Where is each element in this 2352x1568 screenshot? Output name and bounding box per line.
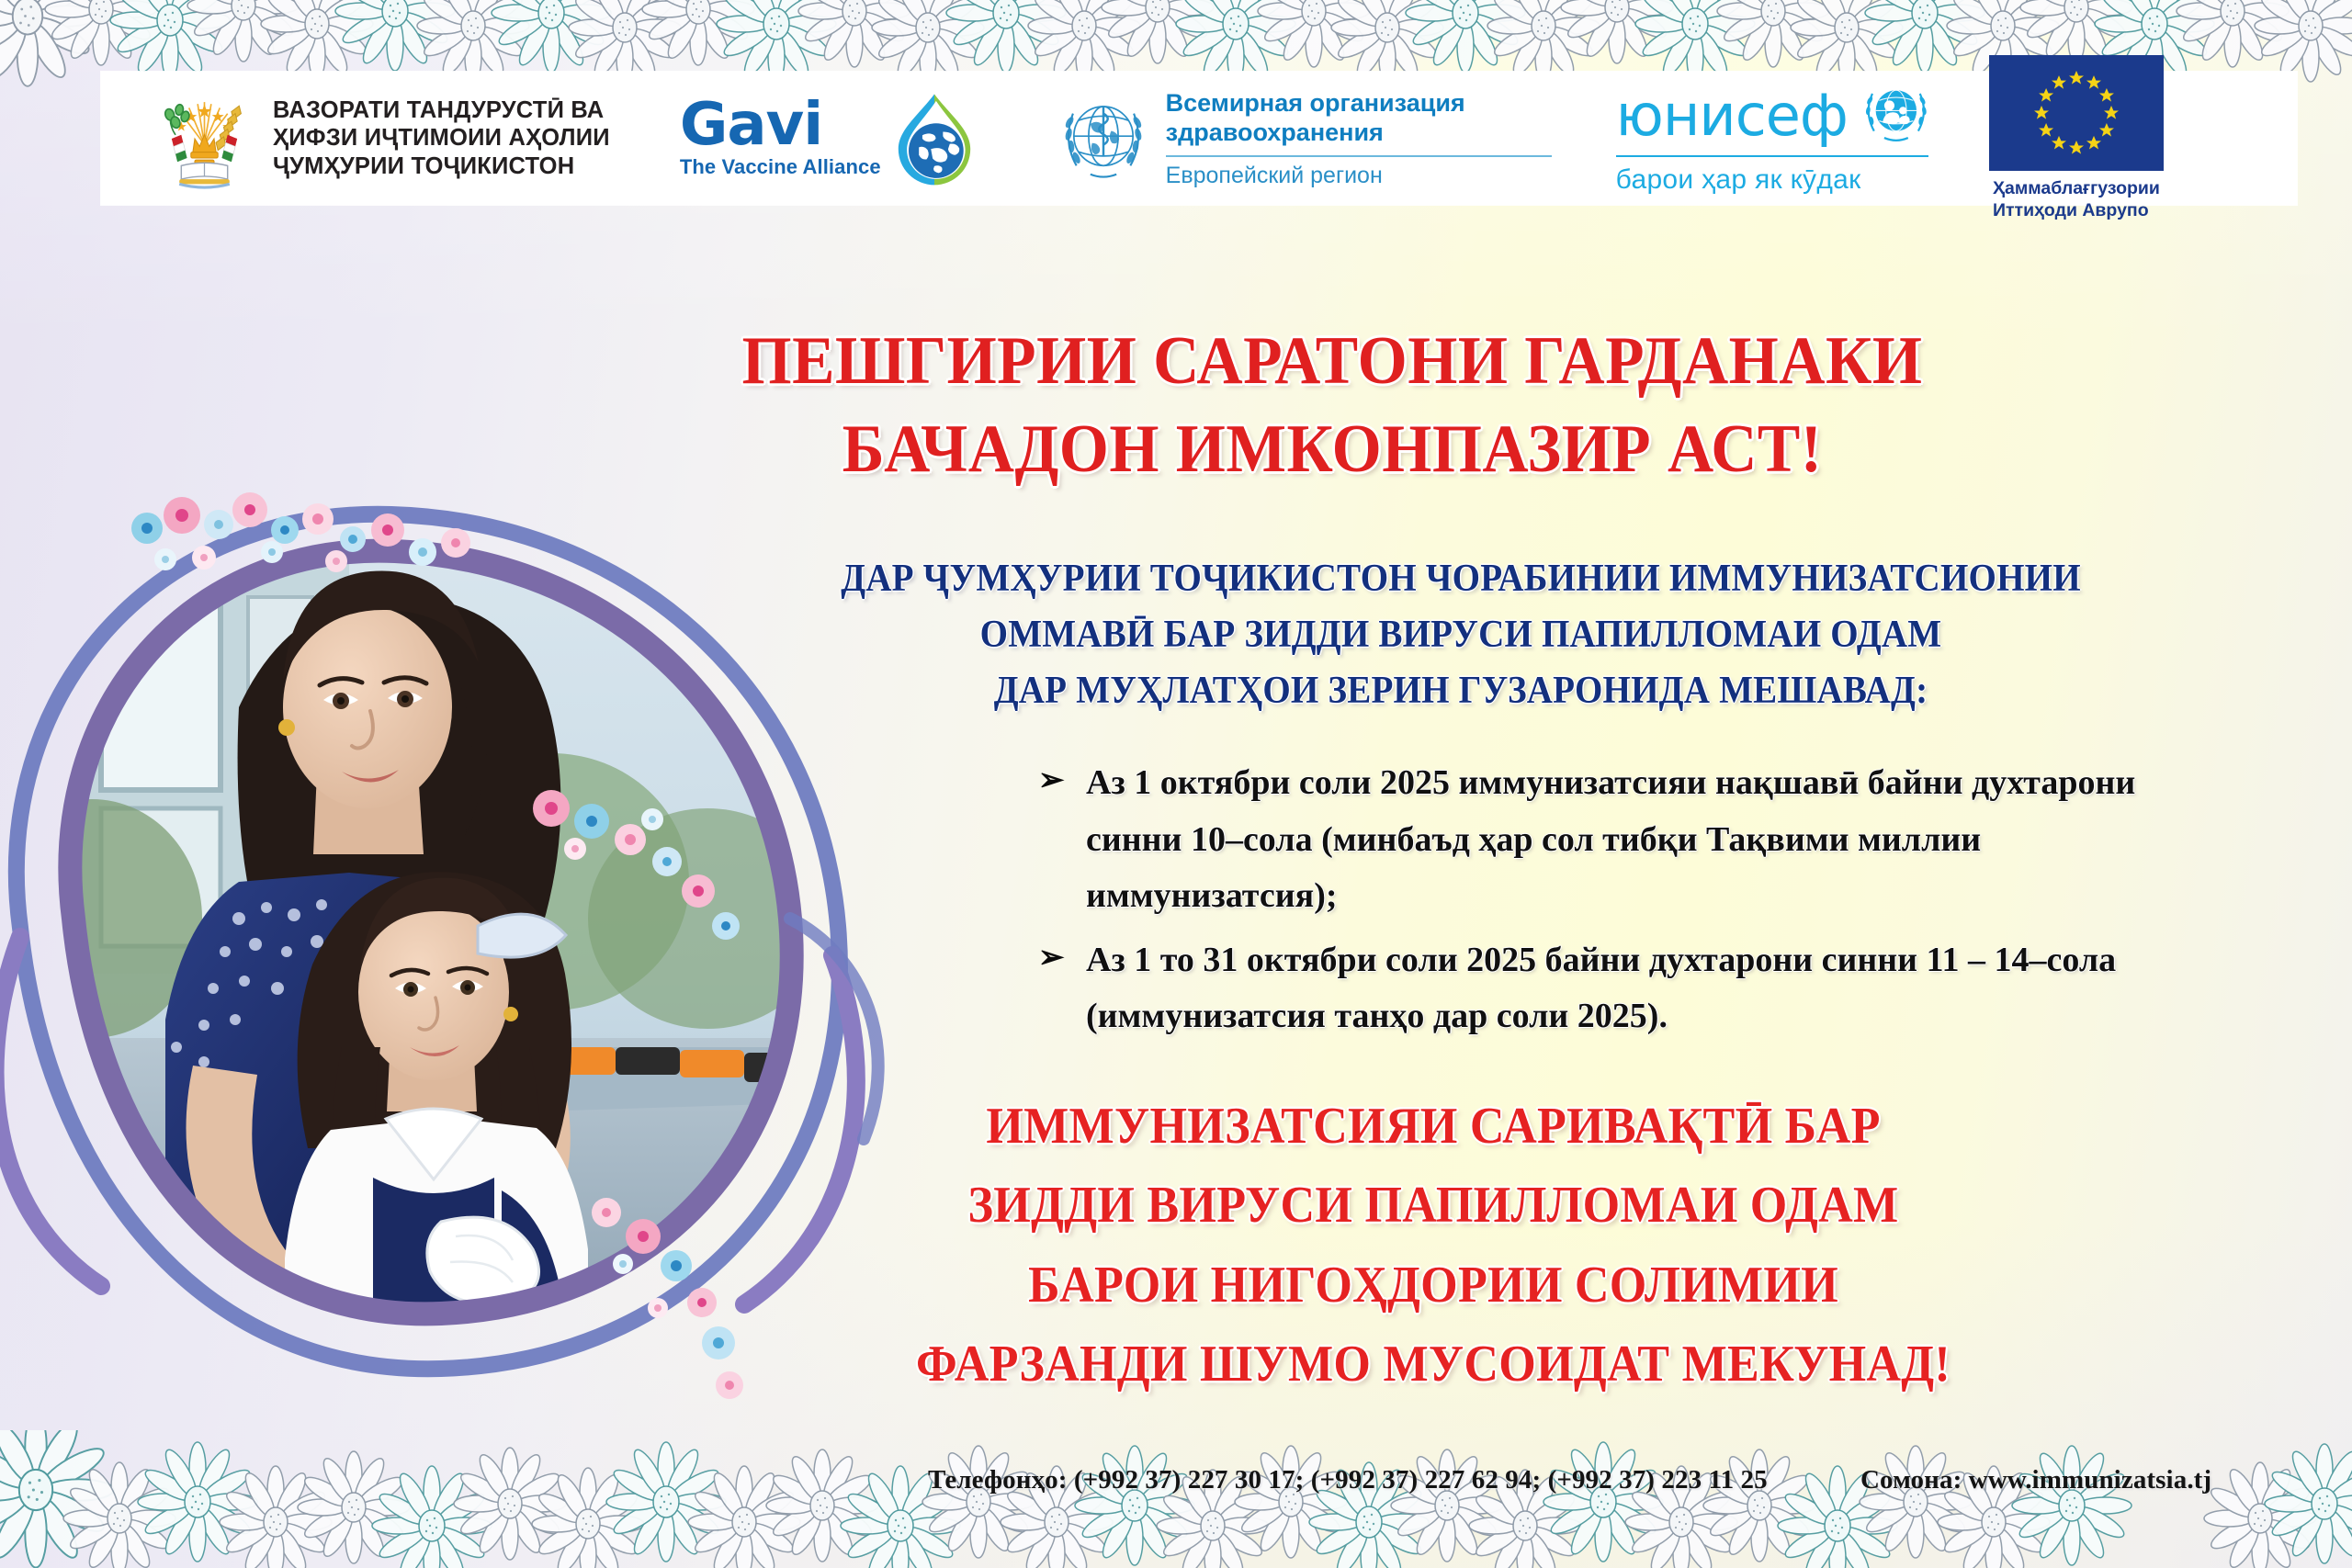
unicef-logo: юнисеф: [1616, 72, 1928, 205]
who-divider: [1166, 155, 1552, 157]
page-title: ПЕШГИРИИ САРАТОНИ ГАРДАНАКИ БАЧАДОН ИМКО…: [633, 320, 2032, 491]
who-title-text: Всемирная организация здравоохранения: [1166, 89, 1552, 148]
cta-line-3: БАРОИ НИГОҲДОРИИ СОЛИМИИ: [698, 1247, 2168, 1323]
headline-line-1: ПЕШГИРИИ САРАТОНИ ГАРДАНАКИ: [633, 320, 2032, 402]
contact-website[interactable]: Сомона: www.immunizatsia.tj: [1860, 1465, 2211, 1495]
headline-line-2: БАЧАДОН ИМКОНПАЗИР АСТ!: [633, 408, 2032, 491]
gavi-droplet-globe-icon: [883, 87, 986, 190]
unicef-emblem-icon: [1860, 82, 1928, 150]
unicef-wordmark: юнисеф: [1616, 87, 1848, 144]
cta-line-4: ФАРЗАНДИ ШУМО МУСОИДАТ МЕКУНАД!: [698, 1326, 2168, 1402]
subheadline-line-2: ОММАВӢ БАР ЗИДДИ ВИРУСИ ПАПИЛЛОМАИ ОДАМ: [752, 607, 2170, 663]
ministry-of-health-logo: ВАЗОРАТИ ТАНДУРУСТӢ ВА ҲИФЗИ ИҶТИМОИИ АҲ…: [101, 72, 610, 205]
subheadline-line-3: ДАР МУҲЛАТҲОИ ЗЕРИН ГУЗАРОНИДА МЕШАВАД:: [752, 663, 2170, 719]
contact-phone-numbers: Телефонҳо: (+992 37) 227 30 17; (+992 37…: [928, 1465, 1768, 1495]
bullet-arrow-icon: ➢: [1038, 932, 1066, 983]
list-item: ➢ Аз 1 октябри соли 2025 иммунизатсияи н…: [1038, 755, 2233, 925]
unicef-divider: [1616, 155, 1928, 157]
gavi-wordmark: Gavi: [680, 97, 881, 153]
list-item: ➢ Аз 1 то 31 октябри соли 2025 байни дух…: [1038, 932, 2233, 1045]
schedule-bullet-list: ➢ Аз 1 октябри соли 2025 иммунизатсияи н…: [1038, 755, 2233, 1045]
gavi-tagline: The Vaccine Alliance: [680, 155, 881, 179]
ministry-name-text: ВАЗОРАТИ ТАНДУРУСТӢ ВА ҲИФЗИ ИҶТИМОИИ АҲ…: [273, 96, 610, 180]
bullet-text-2: Аз 1 то 31 октябри соли 2025 байни духта…: [1086, 932, 2233, 1045]
call-to-action-block: ИММУНИЗАТСИЯИ САРИВАҚТӢ БАР ЗИДДИ ВИРУСИ…: [698, 1089, 2168, 1402]
bullet-arrow-icon: ➢: [1038, 755, 1066, 806]
cta-line-2: ЗИДДИ ВИРУСИ ПАПИЛЛОМАИ ОДАМ: [698, 1168, 2168, 1243]
cta-line-1: ИММУНИЗАТСИЯИ САРИВАҚТӢ БАР: [698, 1089, 2168, 1164]
who-region-text: Европейский регион: [1166, 163, 1552, 189]
partner-logo-bar: ВАЗОРАТИ ТАНДУРУСТӢ ВА ҲИФЗИ ИҶТИМОИИ АҲ…: [101, 72, 2297, 205]
bottom-floral-border-decoration: [0, 1430, 2352, 1568]
tajikistan-coat-of-arms-icon: [156, 85, 253, 193]
who-emblem-icon: [1056, 91, 1151, 186]
gavi-logo: Gavi The Vaccine Alliance: [680, 72, 986, 205]
subheadline-line-1: ДАР ҶУМҲУРИИ ТОҶИКИСТОН ЧОРАБИНИИ ИММУНИ…: [752, 551, 2170, 607]
european-union-flag-icon: [1989, 55, 2164, 171]
european-union-logo: Ҳаммаблағгузории Иттиҳоди Аврупо: [1989, 72, 2164, 205]
who-logo: Всемирная организация здравоохранения Ев…: [1056, 72, 1552, 205]
subheadline: ДАР ҶУМҲУРИИ ТОҶИКИСТОН ЧОРАБИНИИ ИММУНИ…: [752, 551, 2170, 719]
unicef-tagline: барои ҳар як кӯдак: [1616, 164, 1928, 196]
eu-funding-note: Ҳаммаблағгузории Иттиҳоди Аврупо: [1993, 178, 2160, 222]
poster-canvas: ВАЗОРАТИ ТАНДУРУСТӢ ВА ҲИФЗИ ИҶТИМОИИ АҲ…: [0, 0, 2352, 1568]
bullet-text-1: Аз 1 октябри соли 2025 иммунизатсияи нақ…: [1086, 755, 2233, 925]
